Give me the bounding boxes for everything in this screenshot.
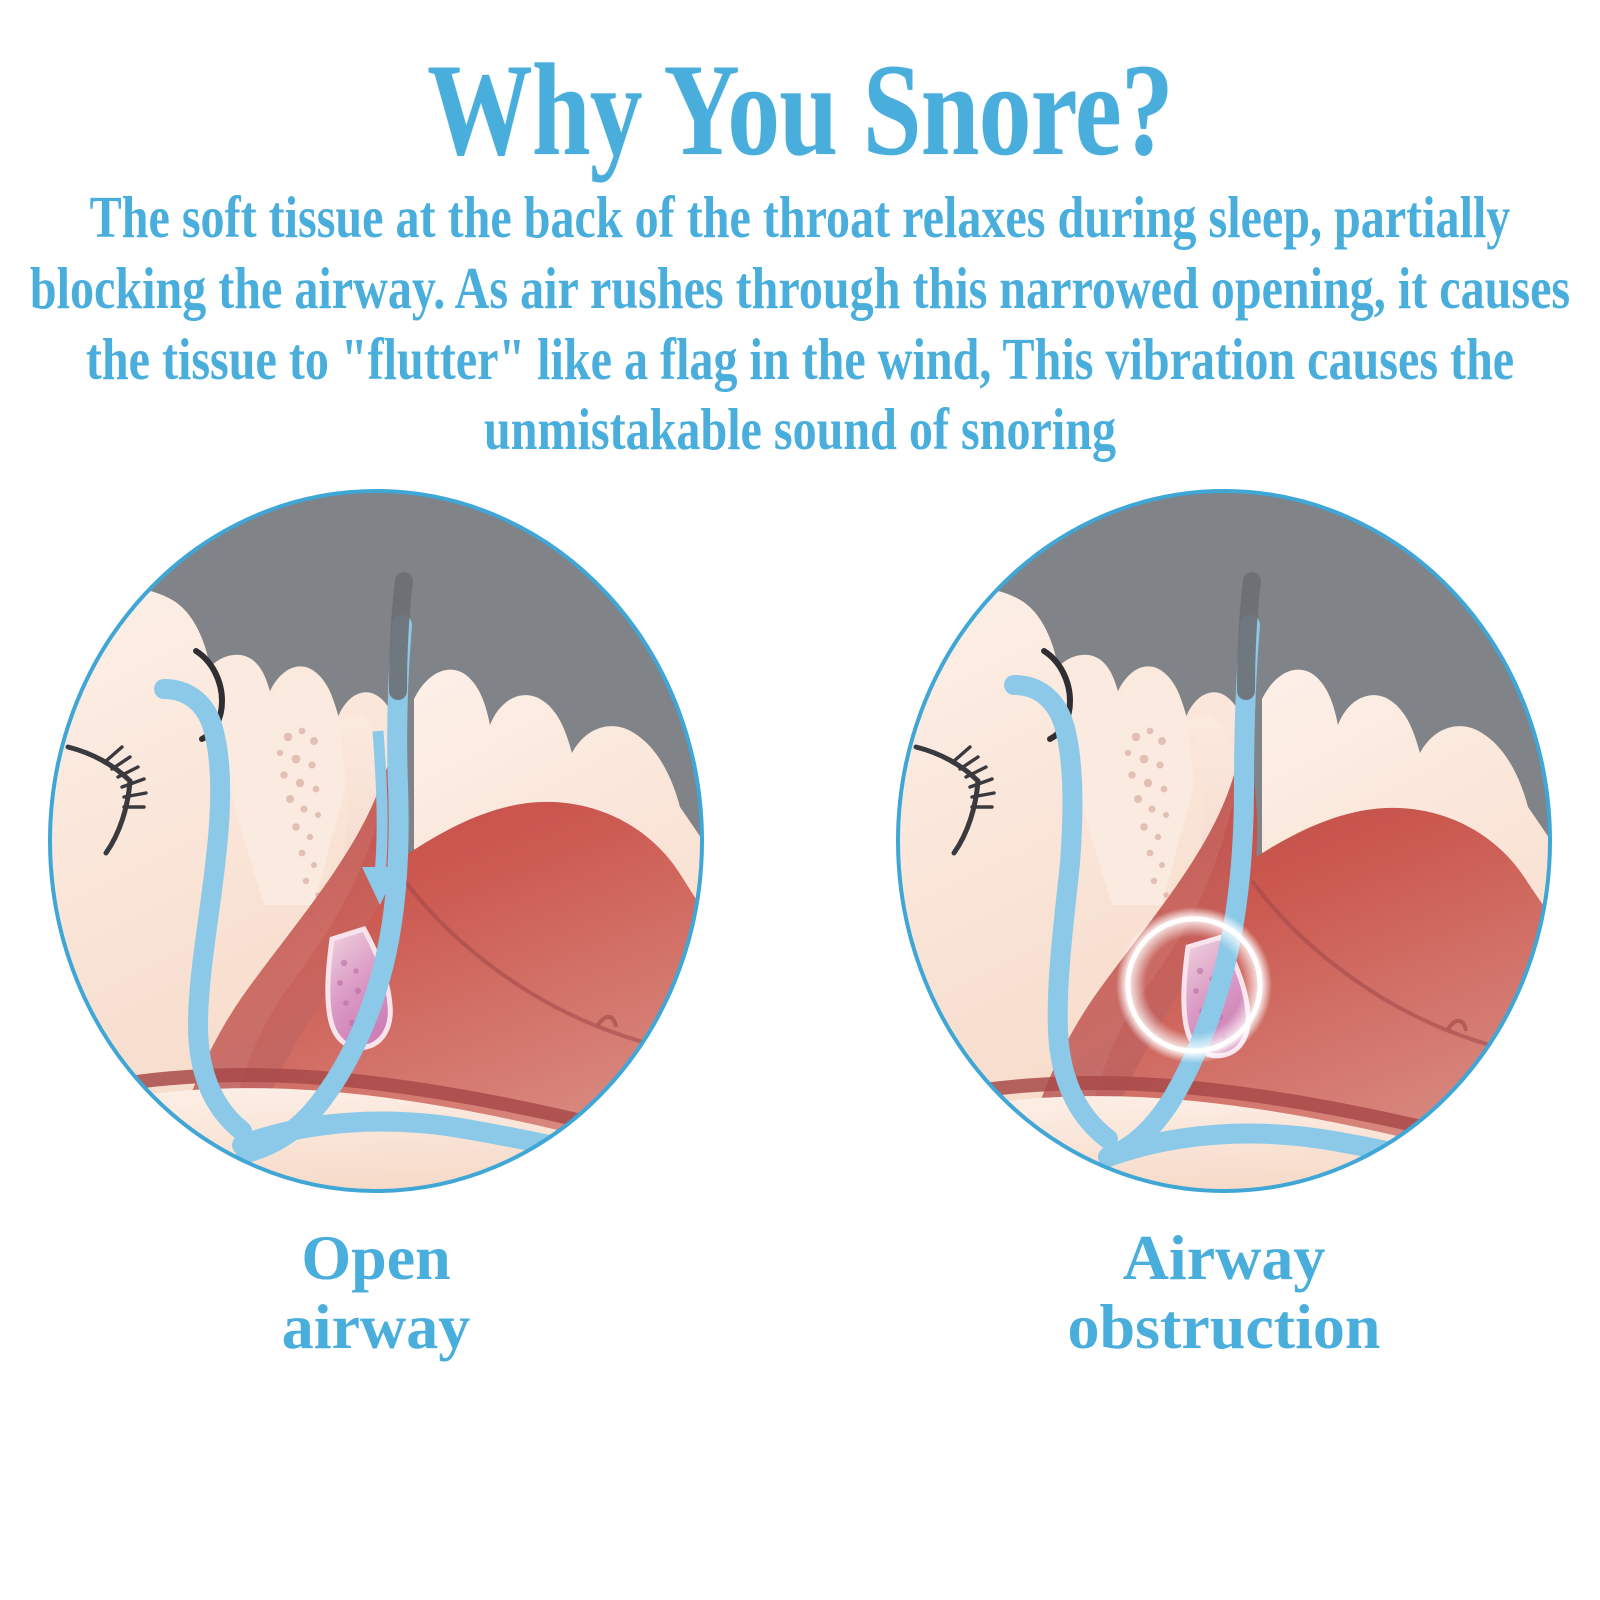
obstruction-highlight <box>1116 907 1272 1063</box>
page-title: Why You Snore? <box>176 44 1424 176</box>
caption-airway-obstruction: Airway obstruction <box>1068 1223 1381 1361</box>
header-block: Why You Snore? The soft tissue at the ba… <box>20 0 1580 465</box>
panel-open-airway: Open airway <box>46 485 706 1361</box>
airway-shadow <box>398 581 404 691</box>
intro-paragraph: The soft tissue at the back of the throa… <box>26 182 1575 465</box>
panels-row: Open airway <box>0 485 1600 1361</box>
panel-airway-obstruction: Airway obstruction <box>894 485 1554 1361</box>
lower-jaw <box>894 1096 1554 1197</box>
anatomy-diagram-obstructed <box>894 485 1554 1197</box>
lower-jaw <box>46 1088 706 1197</box>
caption-open-airway: Open airway <box>282 1223 470 1361</box>
anatomy-diagram-open <box>46 485 706 1197</box>
illustration-open-airway <box>46 485 706 1197</box>
illustration-airway-obstruction <box>894 485 1554 1197</box>
airway-shadow <box>1246 581 1252 691</box>
snoring-infographic: Why You Snore? The soft tissue at the ba… <box>0 0 1600 1600</box>
